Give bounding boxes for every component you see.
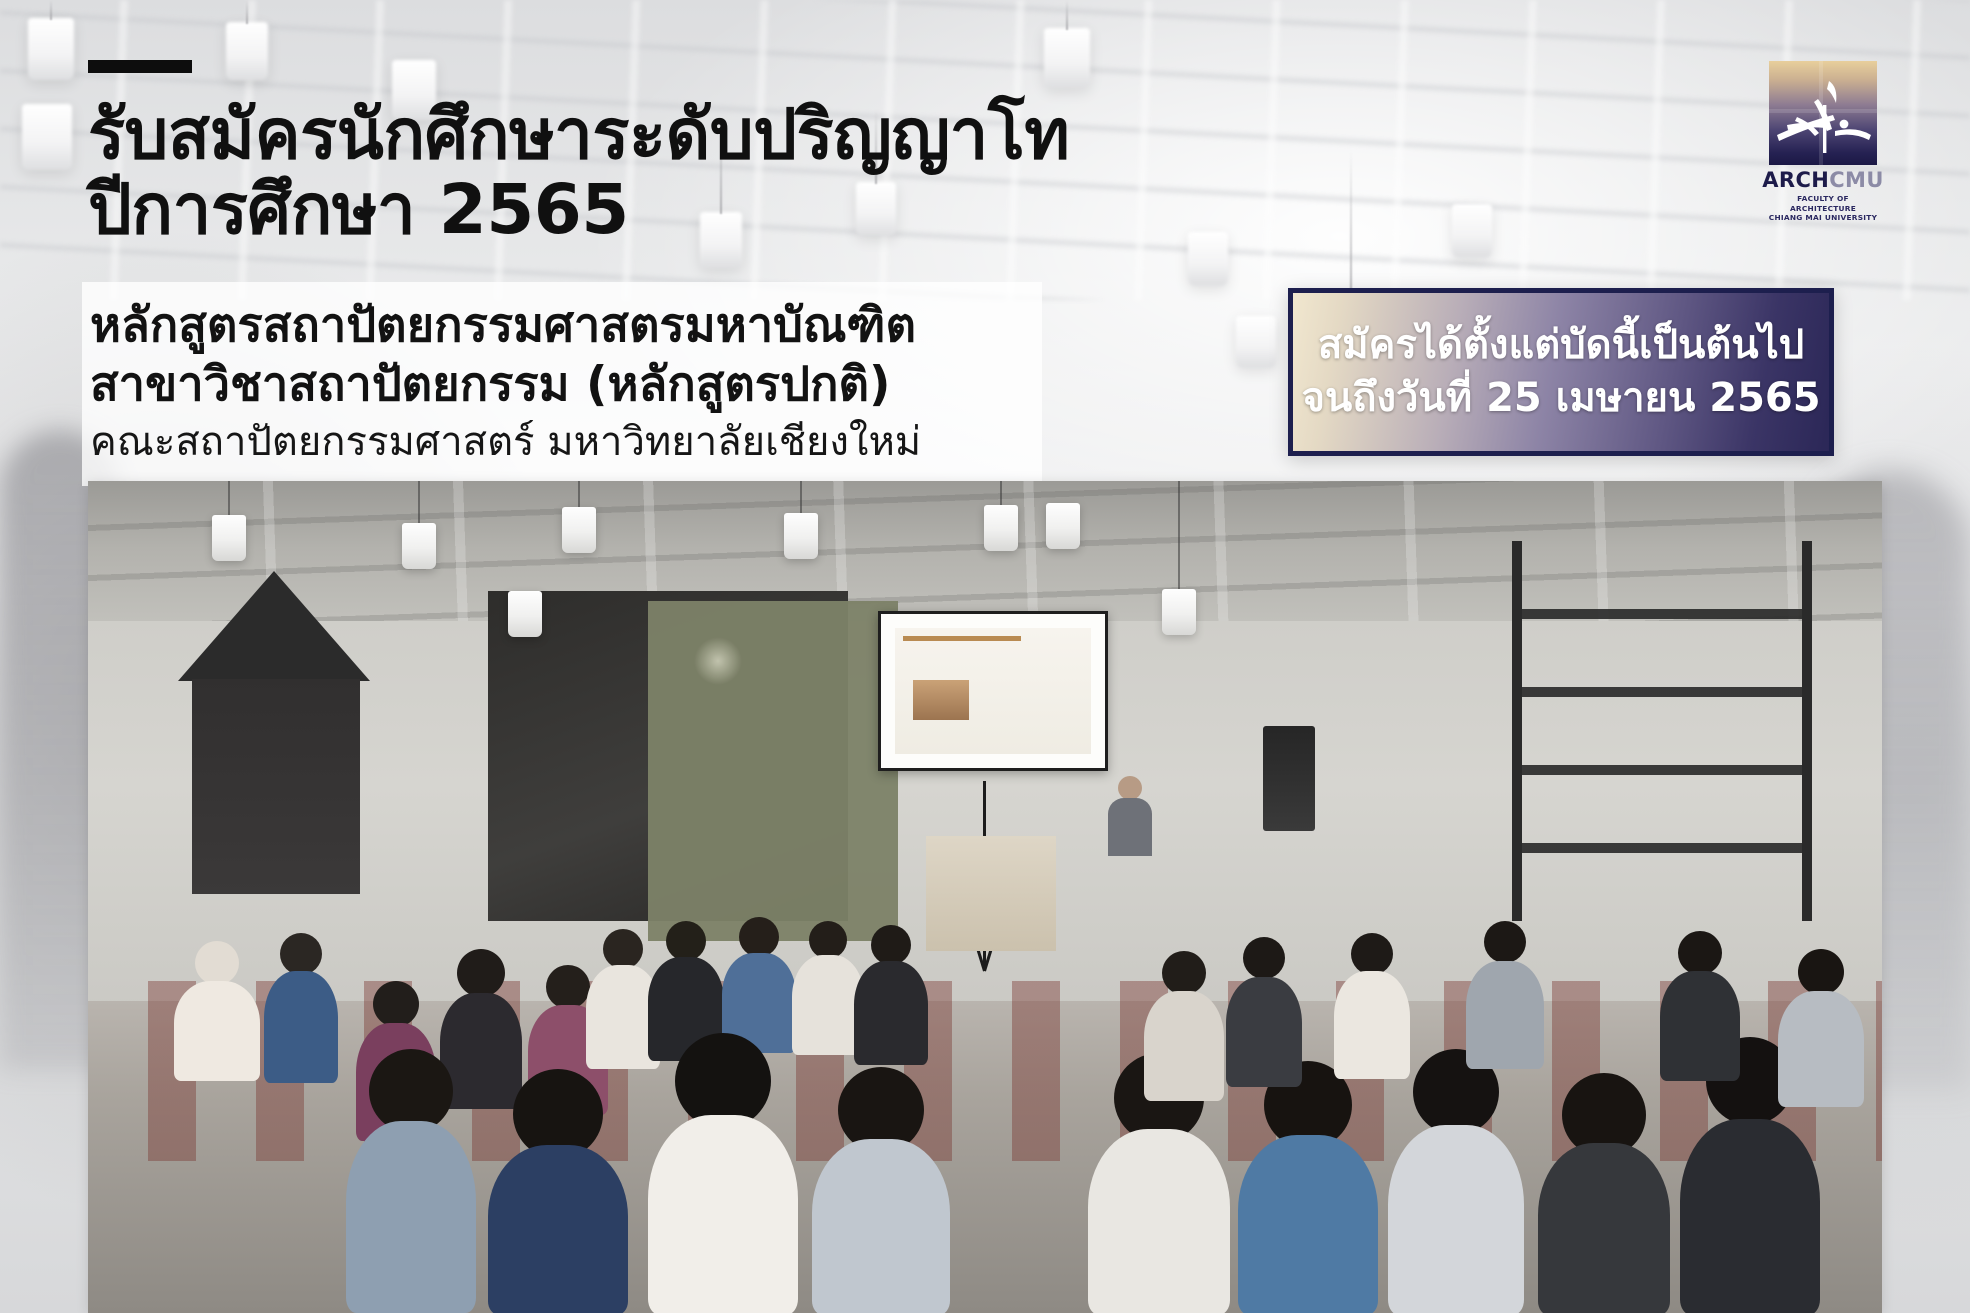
photo-audience-member [488, 1069, 628, 1313]
photo-audience-member [812, 1067, 950, 1313]
photo-audience-member [1388, 1049, 1524, 1313]
deadline-line-1: สมัครได้ตั้งแต่บัดนี้เป็นต้นไป [1318, 319, 1804, 372]
photo-pendant-lamp [984, 505, 1018, 551]
photo-presenter [1108, 776, 1152, 856]
photo-pendant-lamp [402, 523, 436, 569]
photo-lamp-cord [1178, 481, 1180, 591]
photo-lamp-cord [578, 481, 580, 509]
photo-pendant-lamp [212, 515, 246, 561]
accent-rule [88, 60, 192, 73]
page-title-line-2: ปีการศึกษา 2565 [88, 172, 1048, 249]
background-pendant-lamp [1236, 316, 1276, 368]
photo-audience-member [264, 933, 338, 1083]
lecture-hall-photo [88, 481, 1882, 1313]
background-pendant-lamp [1044, 28, 1090, 88]
photo-lamp-cord [228, 481, 230, 517]
photo-lamp-cord [418, 481, 420, 525]
faculty-name: คณะสถาปัตยกรรมศาสตร์ มหาวิทยาลัยเชียงใหม… [90, 416, 1022, 468]
photo-audience-member [1334, 933, 1410, 1079]
background-pendant-lamp [1452, 204, 1492, 258]
page-title-line-1: รับสมัครนักศึกษาระดับปริญญาโท [88, 97, 1048, 174]
photo-wall-mural [648, 601, 898, 941]
photo-presentation-table [926, 836, 1056, 951]
subtitle-panel: หลักสูตรสถาปัตยกรรมศาสตรมหาบัณฑิต สาขาวิ… [82, 282, 1042, 486]
background-lamp-cord [1066, 0, 1068, 30]
archcmu-logo: ARCHCMU FACULTY OF ARCHITECTURE CHIANG M… [1763, 61, 1883, 223]
photo-display-shelving [1512, 541, 1812, 921]
photo-pendant-lamp [1046, 503, 1080, 549]
headline-block: รับสมัครนักศึกษาระดับปริญญาโท ปีการศึกษา… [88, 60, 1048, 250]
photo-audience-member [1466, 921, 1544, 1069]
logo-wordmark: ARCHCMU [1762, 170, 1884, 191]
logo-word-cmu: CMU [1829, 168, 1884, 192]
photo-audience-member [1144, 951, 1224, 1101]
photo-audience-member [648, 1033, 798, 1313]
program-name-line-1: หลักสูตรสถาปัตยกรรมศาสตรมหาบัณฑิต [90, 296, 1022, 355]
application-deadline-badge: สมัครได้ตั้งแต่บัดนี้เป็นต้นไป จนถึงวันท… [1288, 288, 1834, 456]
deadline-line-2: จนถึงวันที่ 25 เมษายน 2565 [1301, 372, 1820, 425]
photo-audience-member [346, 1049, 476, 1313]
photo-audience-member [1778, 949, 1864, 1107]
photo-audience-member [722, 917, 796, 1053]
photo-audience-member [1226, 937, 1302, 1087]
photo-lamp-cord [1000, 481, 1002, 507]
archcmu-emblem-icon [1769, 61, 1877, 165]
photo-pendant-lamp [562, 507, 596, 553]
logo-subtitle-line-1: FACULTY OF ARCHITECTURE [1763, 194, 1883, 213]
background-pendant-lamp [22, 104, 72, 170]
logo-subtitle: FACULTY OF ARCHITECTURE CHIANG MAI UNIVE… [1763, 194, 1883, 223]
photo-projector-screen [878, 611, 1108, 771]
photo-pa-speaker [1263, 726, 1315, 831]
photo-pendant-lamp [1162, 589, 1196, 635]
program-name-line-2: สาขาวิชาสถาปัตยกรรม (หลักสูตรปกติ) [90, 355, 1022, 414]
background-pendant-lamp [28, 18, 74, 80]
photo-pendant-lamp [784, 513, 818, 559]
background-lamp-cord [246, 0, 248, 24]
photo-audience-member [854, 925, 928, 1065]
photo-projected-slide [895, 628, 1091, 754]
logo-word-arch: ARCH [1762, 168, 1829, 192]
photo-pendant-lamp [508, 591, 542, 637]
photo-audience-member [174, 941, 260, 1081]
photo-audience-member [1238, 1061, 1378, 1313]
background-lamp-cord [1350, 150, 1352, 302]
logo-subtitle-line-2: CHIANG MAI UNIVERSITY [1763, 213, 1883, 223]
photo-house-structure [148, 571, 398, 901]
photo-lamp-cord [800, 481, 802, 515]
background-lamp-cord [50, 0, 52, 20]
photo-audience-member [1660, 931, 1740, 1081]
background-pendant-lamp [1188, 232, 1228, 286]
photo-audience-member [1538, 1073, 1670, 1313]
